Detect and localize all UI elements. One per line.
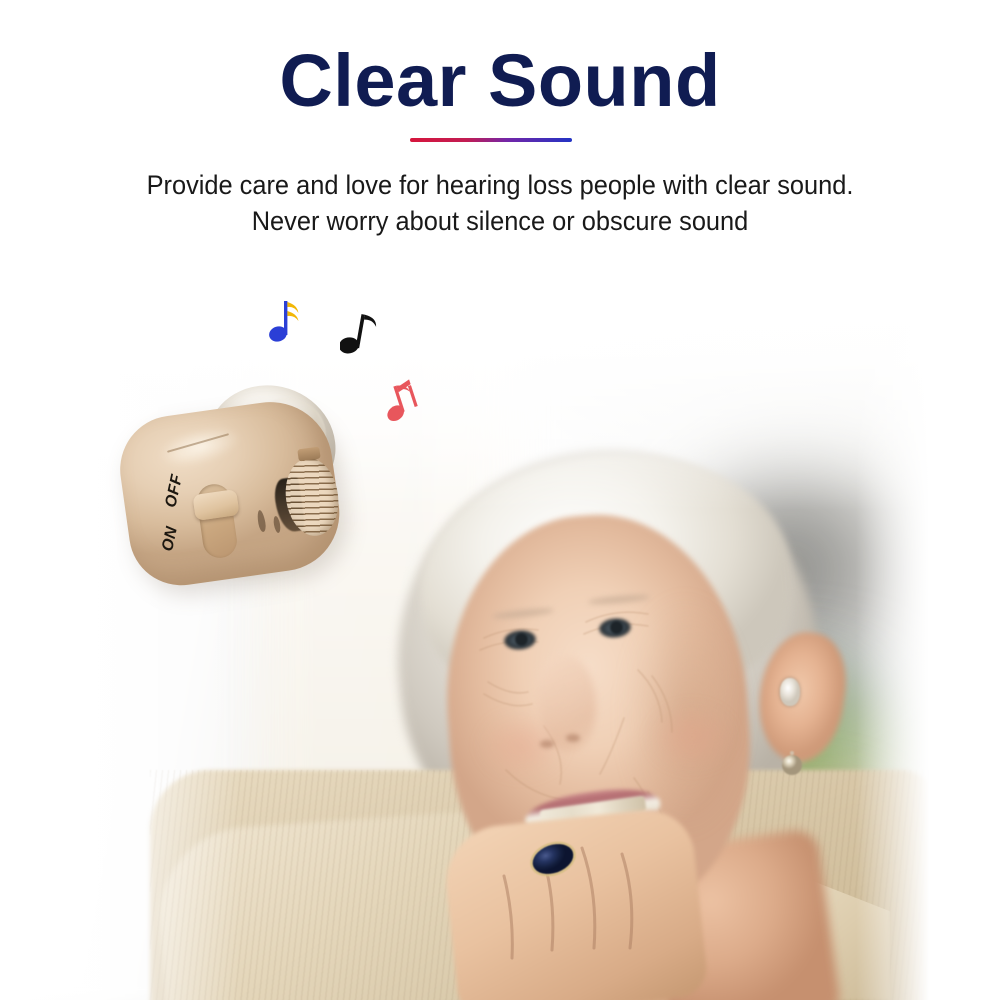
title-divider xyxy=(410,138,572,142)
hand-knuckle-lines xyxy=(450,818,700,1000)
subtitle: Provide care and love for hearing loss p… xyxy=(30,168,970,239)
hearing-aid-product: OFF ON xyxy=(118,382,388,602)
music-note-black-icon xyxy=(340,308,378,365)
pupil-right xyxy=(610,621,623,634)
music-note-blue-icon xyxy=(268,296,302,351)
page-title: Clear Sound xyxy=(0,44,1000,118)
music-note-red-icon xyxy=(382,378,426,427)
nostril-left xyxy=(540,740,554,748)
photo-fade-right xyxy=(856,300,936,1000)
promo-banner: Clear Sound Provide care and love for he… xyxy=(0,0,1000,1000)
nostril-right xyxy=(566,734,580,742)
worn-hearing-aid xyxy=(780,678,800,706)
earring xyxy=(782,755,802,775)
subtitle-line-2: Never worry about silence or obscure sou… xyxy=(30,204,970,240)
subtitle-line-1: Provide care and love for hearing loss p… xyxy=(147,170,854,200)
pupil-left xyxy=(515,633,528,646)
